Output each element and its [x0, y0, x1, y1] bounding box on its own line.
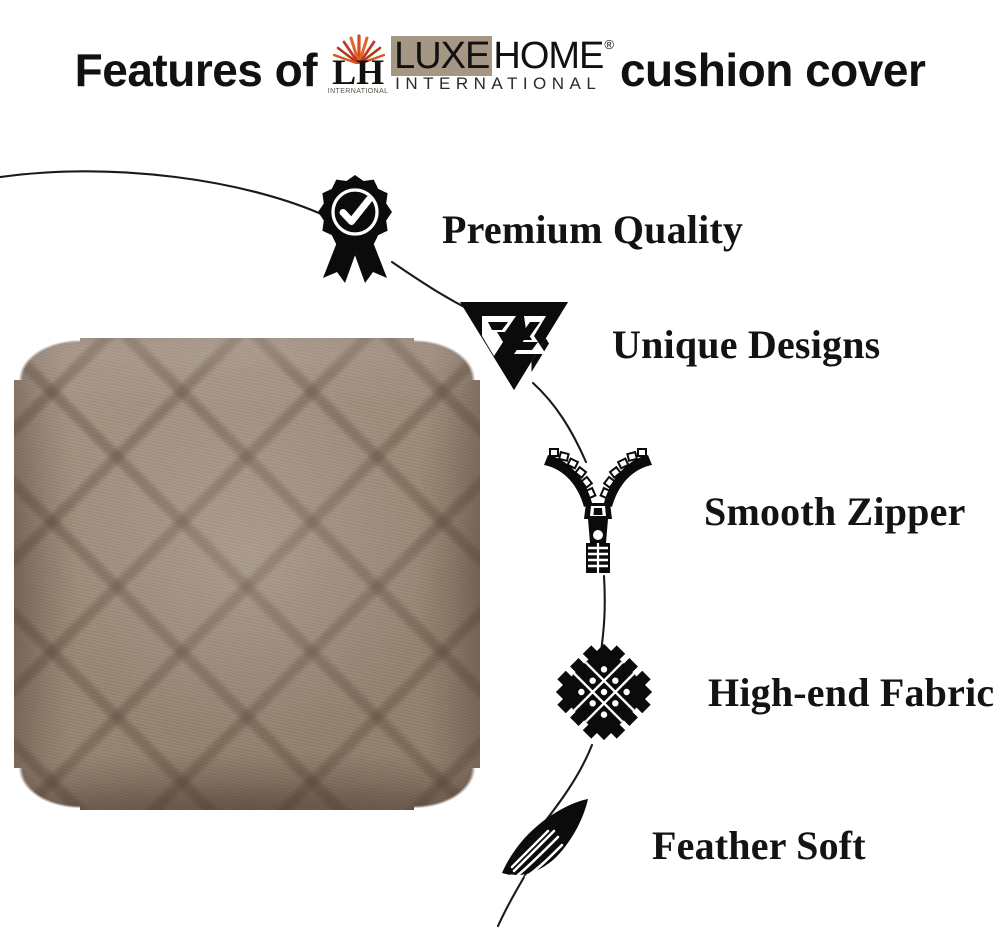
cushion-fabric-surface — [14, 338, 480, 810]
triangle-geometric-icon — [458, 296, 570, 392]
logo-word-luxe: LUXE — [391, 36, 492, 76]
logo-monogram-text: LH — [329, 54, 387, 90]
feature-label-unique-designs: Unique Designs — [612, 321, 880, 368]
header: Features of LH — [0, 30, 1000, 110]
luxehome-logo: LH INTERNATIONAL LUXE HOME ® INTERNATION… — [327, 32, 614, 108]
feature-item-unique-designs: Unique Designs — [458, 296, 880, 392]
headline-text-after: cushion cover — [620, 43, 925, 97]
logo-word-home: HOME — [492, 36, 603, 76]
feature-label-feather-soft: Feather Soft — [652, 822, 866, 869]
feature-label-smooth-zipper: Smooth Zipper — [704, 488, 966, 535]
cushion-product-image — [14, 338, 480, 810]
logo-monogram-subtext: INTERNATIONAL — [327, 88, 389, 95]
feature-item-smooth-zipper: Smooth Zipper — [538, 445, 966, 577]
infographic-canvas: Features of LH — [0, 0, 1000, 928]
zipper-icon — [538, 445, 658, 577]
woven-fabric-swatch-icon — [548, 638, 660, 746]
registered-trademark-icon: ® — [604, 38, 614, 51]
feature-item-feather-soft: Feather Soft — [496, 797, 866, 893]
award-badge-check-icon — [318, 173, 392, 285]
logo-word-international: INTERNATIONAL — [391, 74, 614, 94]
headline-text-before: Features of — [75, 43, 317, 97]
feature-item-premium-quality: Premium Quality — [318, 173, 743, 285]
logo-wordmark: LUXE HOME ® INTERNATIONAL — [391, 32, 614, 94]
feature-label-premium-quality: Premium Quality — [442, 206, 743, 253]
logo-monogram-mark: LH INTERNATIONAL — [327, 32, 389, 108]
connector-left-to-badge — [0, 171, 330, 218]
feature-item-high-end-fabric: High-end Fabric — [548, 638, 994, 746]
feather-quill-icon — [496, 797, 600, 893]
feature-label-high-end-fabric: High-end Fabric — [708, 669, 994, 716]
